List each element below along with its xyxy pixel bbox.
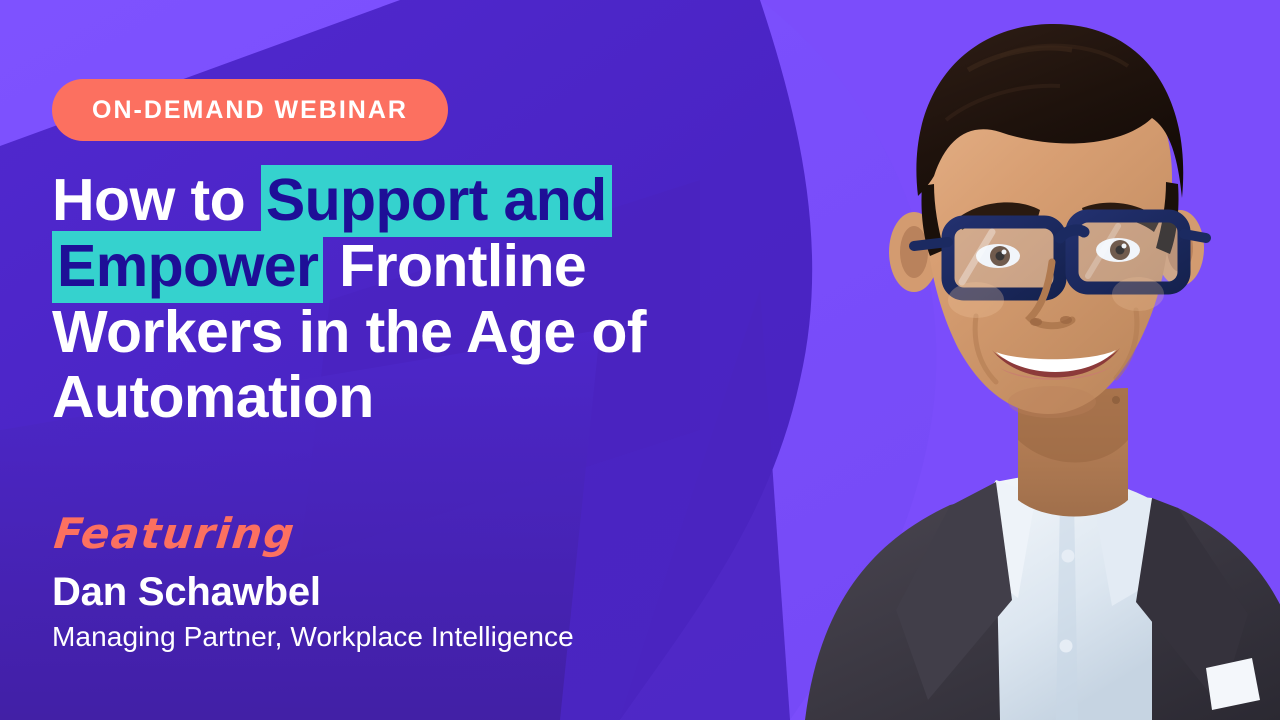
headline-line-1: How to Support and <box>52 168 752 234</box>
headline-highlight-support-and: Support and <box>261 165 612 237</box>
headline-line-4: Automation <box>52 365 752 431</box>
webinar-banner: ON-DEMAND WEBINAR How to Support and Emp… <box>0 0 1280 720</box>
speaker-name: Dan Schawbel <box>52 570 752 614</box>
speaker-title: Managing Partner, Workplace Intelligence <box>52 620 752 654</box>
headline-line-1-plain: How to <box>52 167 261 233</box>
page-title: How to Support and Empower Frontline Wor… <box>52 168 752 431</box>
headline-line-2-plain: Frontline <box>323 233 586 299</box>
on-demand-webinar-badge: ON-DEMAND WEBINAR <box>52 79 448 141</box>
featuring-label: Featuring <box>52 512 757 556</box>
headline-line-3: Workers in the Age of <box>52 300 752 366</box>
speaker-block: Featuring Dan Schawbel Managing Partner,… <box>52 512 752 654</box>
headline-line-2: Empower Frontline <box>52 234 752 300</box>
content-column: ON-DEMAND WEBINAR How to Support and Emp… <box>52 0 772 720</box>
headline-highlight-empower: Empower <box>52 231 323 303</box>
